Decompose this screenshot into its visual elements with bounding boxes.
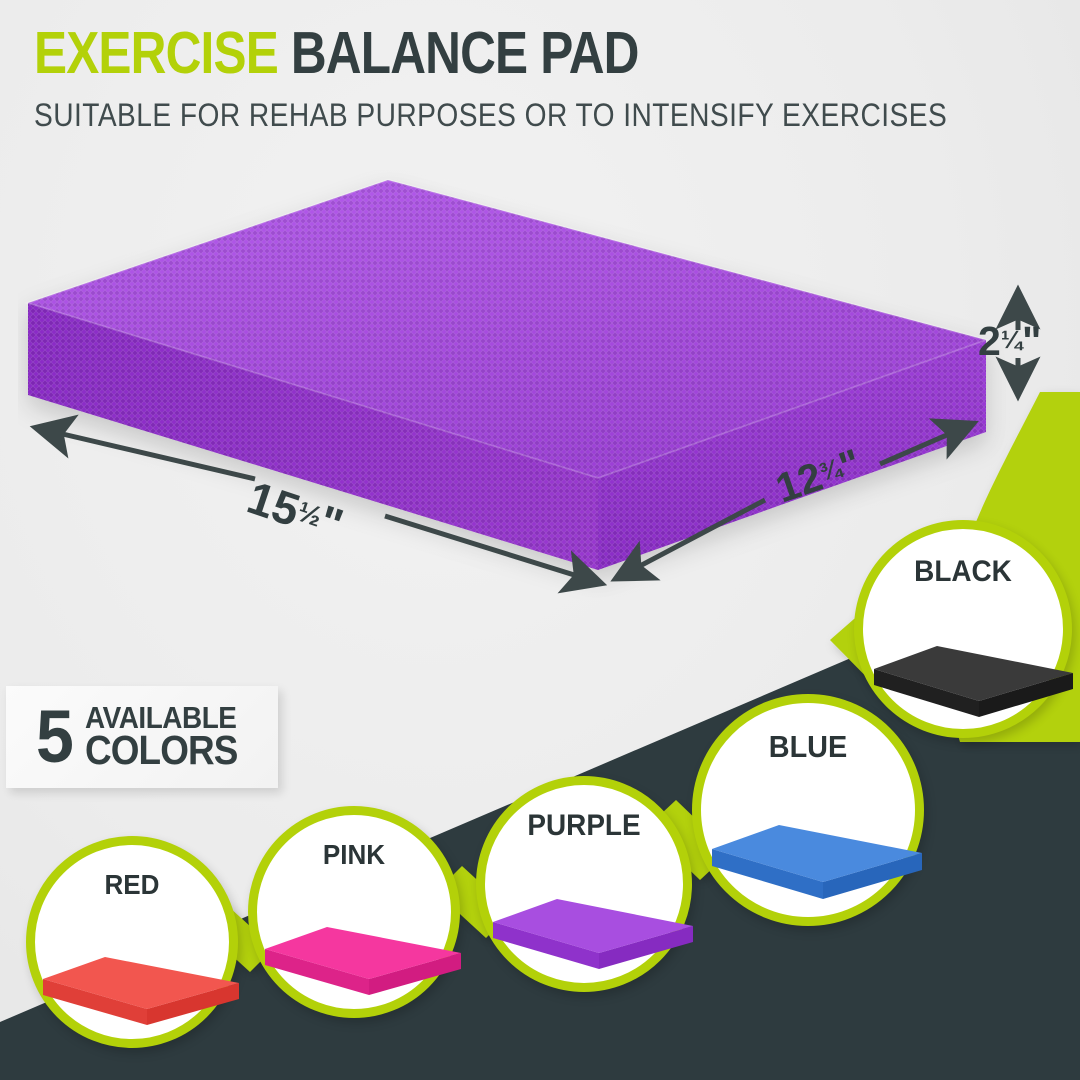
colors-badge-words: AVAILABLE COLORS [85, 704, 254, 770]
pad-render-black [869, 621, 1077, 717]
swatch-label-purple: PURPLE [492, 809, 676, 843]
height-fraction: ¼ [1001, 326, 1022, 354]
color-swatch-black[interactable]: BLACK [854, 520, 1072, 738]
page-title: EXERCISE BALANCE PAD [34, 24, 882, 83]
page-subtitle: SUITABLE FOR REHAB PURPOSES OR TO INTENS… [34, 97, 923, 134]
pad-render-red [39, 933, 243, 1025]
pad-render-pink [261, 903, 465, 995]
title-rest [278, 20, 291, 86]
badge-line-2: COLORS [85, 732, 237, 770]
swatch-label-pink: PINK [264, 839, 444, 871]
infographic-canvas: EXERCISE BALANCE PAD SUITABLE FOR REHAB … [0, 0, 1080, 1080]
pad-render-purple [489, 875, 697, 969]
color-swatch-red[interactable]: RED [26, 836, 238, 1048]
title-rest-text: BALANCE PAD [291, 20, 639, 86]
hero-product-balance-pad [18, 170, 1028, 600]
available-colors-badge: 5 AVAILABLE COLORS [6, 686, 278, 788]
swatch-label-blue: BLUE [708, 729, 907, 765]
color-swatch-pink[interactable]: PINK [248, 806, 460, 1018]
title-accent: EXERCISE [34, 20, 278, 86]
swatch-label-red: RED [42, 869, 222, 901]
dimension-height-label: 2¼" [978, 318, 1041, 365]
header-block: EXERCISE BALANCE PAD SUITABLE FOR REHAB … [34, 24, 1044, 134]
colors-count: 5 [36, 706, 74, 768]
color-swatch-purple[interactable]: PURPLE [476, 776, 692, 992]
pad-render-blue [707, 799, 927, 899]
swatch-label-black: BLACK [870, 555, 1056, 589]
color-swatch-blue[interactable]: BLUE [692, 694, 924, 926]
